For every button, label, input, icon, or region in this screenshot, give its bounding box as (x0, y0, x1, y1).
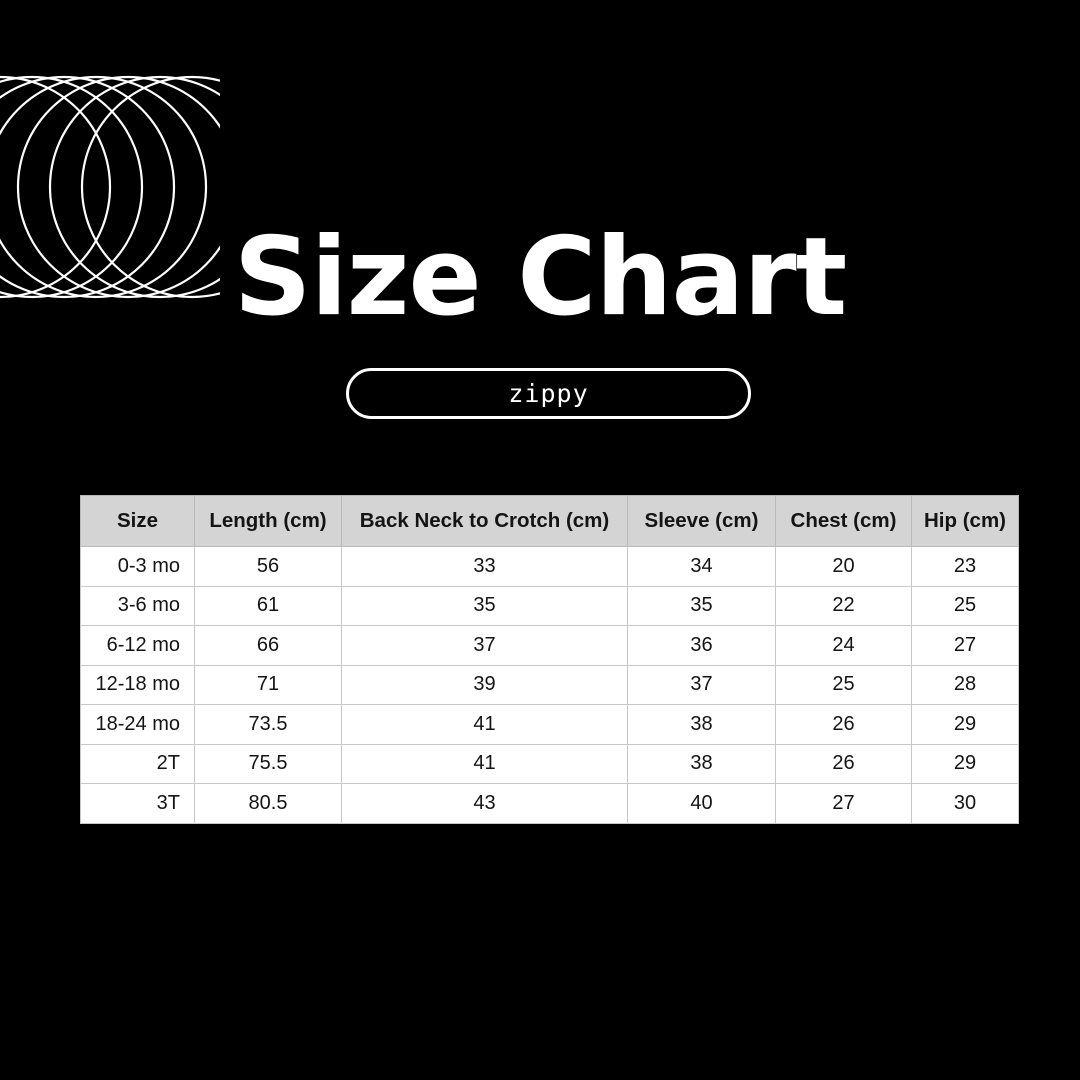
size-table-header: Size Length (cm) Back Neck to Crotch (cm… (81, 496, 1019, 547)
cell-sleeve: 40 (628, 784, 776, 824)
cell-back-neck-to-crotch: 35 (342, 586, 628, 626)
cell-chest: 26 (776, 705, 912, 745)
table-row: 18-24 mo 73.5 41 38 26 29 (81, 705, 1019, 745)
cell-sleeve: 38 (628, 705, 776, 745)
cell-length: 80.5 (195, 784, 342, 824)
cell-size: 18-24 mo (81, 705, 195, 745)
cell-length: 66 (195, 626, 342, 666)
cell-sleeve: 36 (628, 626, 776, 666)
column-header-hip: Hip (cm) (912, 496, 1019, 547)
table-row: 6-12 mo 66 37 36 24 27 (81, 626, 1019, 666)
cell-length: 56 (195, 547, 342, 587)
cell-length: 75.5 (195, 744, 342, 784)
brand-badge: zippy (346, 368, 751, 419)
cell-chest: 24 (776, 626, 912, 666)
cell-hip: 27 (912, 626, 1019, 666)
cell-sleeve: 35 (628, 586, 776, 626)
cell-length: 71 (195, 665, 342, 705)
cell-size: 0-3 mo (81, 547, 195, 587)
table-row: 2T 75.5 41 38 26 29 (81, 744, 1019, 784)
cell-chest: 25 (776, 665, 912, 705)
brand-label: zippy (508, 381, 588, 406)
cell-hip: 30 (912, 784, 1019, 824)
cell-size: 3T (81, 784, 195, 824)
size-table-body: 0-3 mo 56 33 34 20 23 3-6 mo 61 35 35 22… (81, 547, 1019, 824)
cell-sleeve: 38 (628, 744, 776, 784)
column-header-sleeve: Sleeve (cm) (628, 496, 776, 547)
cell-length: 61 (195, 586, 342, 626)
table-row: 12-18 mo 71 39 37 25 28 (81, 665, 1019, 705)
column-header-size: Size (81, 496, 195, 547)
table-row: 0-3 mo 56 33 34 20 23 (81, 547, 1019, 587)
cell-size: 3-6 mo (81, 586, 195, 626)
cell-hip: 29 (912, 705, 1019, 745)
column-header-length: Length (cm) (195, 496, 342, 547)
cell-chest: 27 (776, 784, 912, 824)
cell-back-neck-to-crotch: 43 (342, 784, 628, 824)
size-table-container: Size Length (cm) Back Neck to Crotch (cm… (80, 495, 1018, 824)
cell-size: 12-18 mo (81, 665, 195, 705)
cell-back-neck-to-crotch: 41 (342, 705, 628, 745)
table-row: 3-6 mo 61 35 35 22 25 (81, 586, 1019, 626)
cell-back-neck-to-crotch: 33 (342, 547, 628, 587)
cell-back-neck-to-crotch: 39 (342, 665, 628, 705)
table-row: 3T 80.5 43 40 27 30 (81, 784, 1019, 824)
cell-back-neck-to-crotch: 41 (342, 744, 628, 784)
cell-back-neck-to-crotch: 37 (342, 626, 628, 666)
column-header-chest: Chest (cm) (776, 496, 912, 547)
cell-sleeve: 34 (628, 547, 776, 587)
column-header-back-neck-to-crotch: Back Neck to Crotch (cm) (342, 496, 628, 547)
cell-chest: 22 (776, 586, 912, 626)
size-table: Size Length (cm) Back Neck to Crotch (cm… (80, 495, 1019, 824)
cell-hip: 25 (912, 586, 1019, 626)
cell-hip: 28 (912, 665, 1019, 705)
table-header-row: Size Length (cm) Back Neck to Crotch (cm… (81, 496, 1019, 547)
cell-size: 2T (81, 744, 195, 784)
cell-sleeve: 37 (628, 665, 776, 705)
size-chart-page: Size Chart zippy Size Length (cm) Back N… (0, 0, 1080, 1080)
cell-hip: 23 (912, 547, 1019, 587)
page-title: Size Chart (0, 218, 1080, 338)
cell-chest: 20 (776, 547, 912, 587)
cell-length: 73.5 (195, 705, 342, 745)
cell-hip: 29 (912, 744, 1019, 784)
cell-size: 6-12 mo (81, 626, 195, 666)
cell-chest: 26 (776, 744, 912, 784)
